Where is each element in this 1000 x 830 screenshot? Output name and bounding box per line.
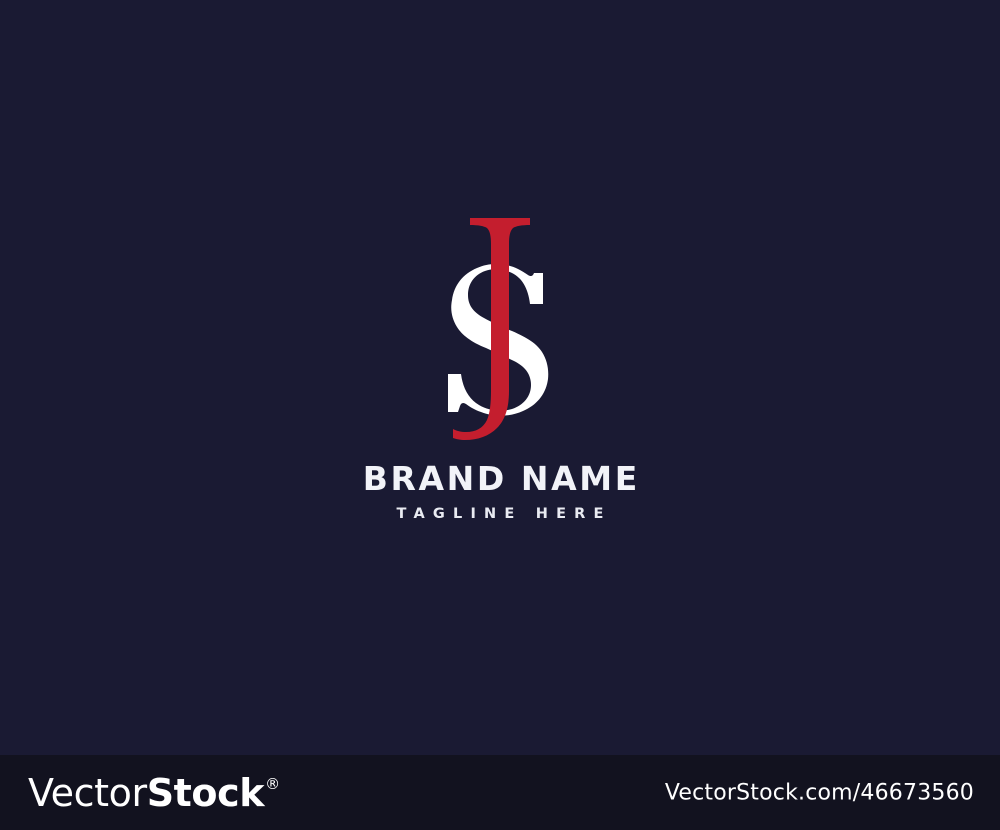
vectorstock-logo-light-text: Vector <box>28 773 147 813</box>
watermark-footer-bar: Vector Stock ® VectorStock.com/46673560 <box>0 755 1000 830</box>
tagline: TAGLINE HERE <box>0 506 1000 523</box>
vectorstock-logo-bold-text: Stock <box>147 773 264 813</box>
registered-trademark-icon: ® <box>265 775 280 793</box>
brand-name: BRAND NAME <box>0 460 1000 498</box>
screenshot-root: BRAND NAME TAGLINE HERE Vector Stock ® V… <box>0 0 1000 830</box>
sj-monogram <box>430 200 570 455</box>
vectorstock-logo: Vector Stock ® <box>28 773 280 813</box>
logo-artboard: BRAND NAME TAGLINE HERE <box>0 0 1000 755</box>
logo-lockup: BRAND NAME TAGLINE HERE <box>0 0 1000 755</box>
vectorstock-url: VectorStock.com/46673560 <box>665 780 974 805</box>
brand-text-block: BRAND NAME TAGLINE HERE <box>0 460 1000 523</box>
